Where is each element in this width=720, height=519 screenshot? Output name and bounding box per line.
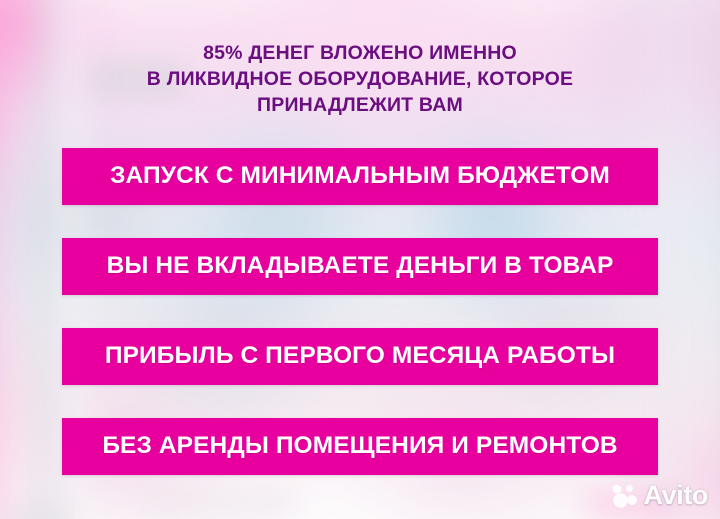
- avito-watermark: Avito: [610, 482, 709, 509]
- benefit-bar-label: ЗАПУСК С МИНИМАЛЬНЫМ БЮДЖЕТОМ: [110, 164, 610, 189]
- avito-dots-icon: [610, 483, 640, 509]
- benefit-bar: ВЫ НЕ ВКЛАДЫВАЕТЕ ДЕНЬГИ В ТОВАР: [62, 238, 658, 295]
- benefit-bar: ПРИБЫЛЬ С ПЕРВОГО МЕСЯЦА РАБОТЫ: [62, 328, 658, 385]
- benefit-bar: БЕЗ АРЕНДЫ ПОМЕЩЕНИЯ И РЕМОНТОВ: [62, 418, 658, 475]
- benefit-bar-label: БЕЗ АРЕНДЫ ПОМЕЩЕНИЯ И РЕМОНТОВ: [102, 434, 617, 459]
- benefit-bar-label: ВЫ НЕ ВКЛАДЫВАЕТЕ ДЕНЬГИ В ТОВАР: [107, 254, 614, 279]
- benefit-bar-list: ЗАПУСК С МИНИМАЛЬНЫМ БЮДЖЕТОМ ВЫ НЕ ВКЛА…: [62, 148, 658, 475]
- headline-line-2: В ЛИКВИДНОЕ ОБОРУДОВАНИЕ, КОТОРОЕ: [0, 66, 720, 92]
- avito-wordmark: Avito: [644, 482, 709, 509]
- benefit-bar-label: ПРИБЫЛЬ С ПЕРВОГО МЕСЯЦА РАБОТЫ: [105, 344, 615, 369]
- promo-banner: 85% ДЕНЕГ ВЛОЖЕНО ИМЕННО В ЛИКВИДНОЕ ОБО…: [0, 0, 720, 519]
- headline-line-3: ПРИНАДЛЕЖИТ ВАМ: [0, 92, 720, 118]
- headline: 85% ДЕНЕГ ВЛОЖЕНО ИМЕННО В ЛИКВИДНОЕ ОБО…: [0, 40, 720, 118]
- benefit-bar: ЗАПУСК С МИНИМАЛЬНЫМ БЮДЖЕТОМ: [62, 148, 658, 205]
- headline-line-1: 85% ДЕНЕГ ВЛОЖЕНО ИМЕННО: [0, 40, 720, 66]
